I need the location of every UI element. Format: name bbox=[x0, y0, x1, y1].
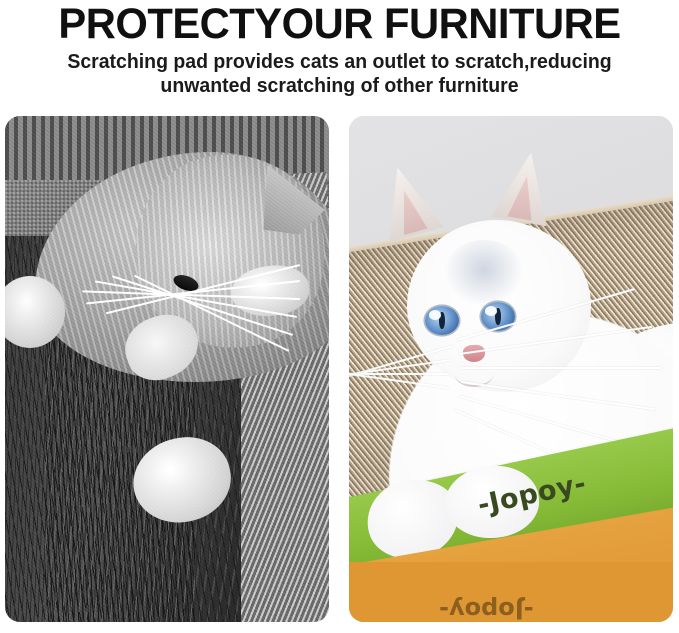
after-photo: -Jopoy- -Jopoy- bbox=[349, 116, 673, 622]
before-photo bbox=[5, 116, 329, 622]
page-subtitle: Scratching pad provides cats an outlet t… bbox=[17, 46, 662, 98]
after-cat-face-mask bbox=[445, 240, 523, 306]
brand-logo-orange: -Jopoy- bbox=[439, 596, 534, 622]
subtitle-line-2: unwanted scratching of other furniture bbox=[17, 74, 662, 98]
header-block: PROTECTYOUR FURNITURE Scratching pad pro… bbox=[0, 0, 679, 98]
after-panel: -Jopoy- -Jopoy- AFTER bbox=[349, 116, 673, 622]
before-panel: BEFOR bbox=[5, 116, 329, 622]
before-photo-grain bbox=[5, 116, 329, 622]
subtitle-line-1: Scratching pad provides cats an outlet t… bbox=[17, 50, 662, 74]
page-title: PROTECTYOUR FURNITURE bbox=[10, 0, 669, 46]
